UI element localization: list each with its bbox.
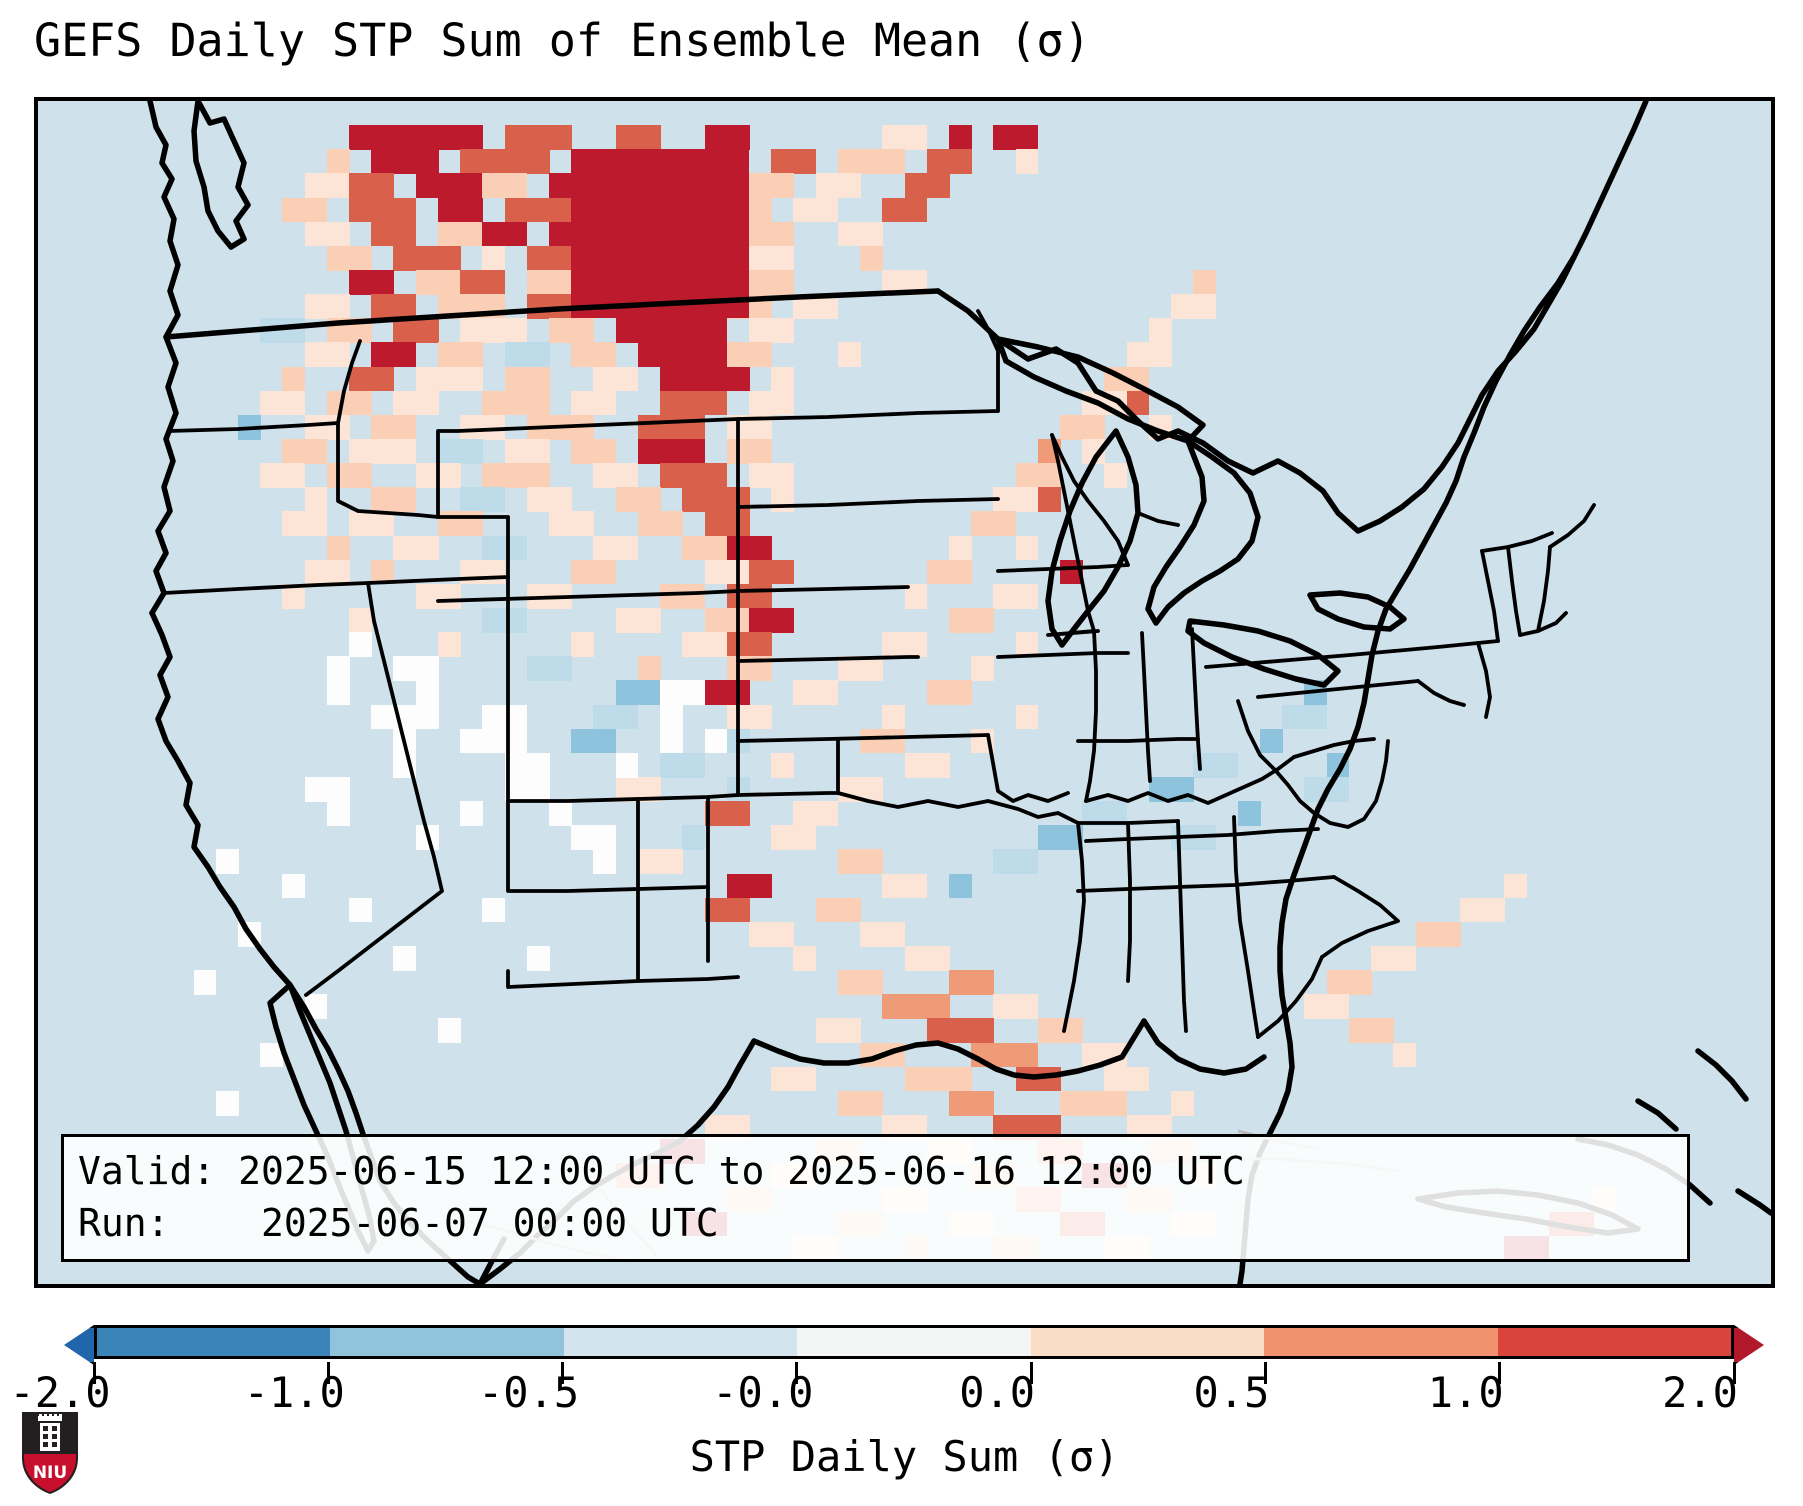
heatmap-cell-nearzero [616,753,639,778]
heatmap-cell [927,149,972,174]
heatmap-cell [1104,367,1149,392]
colorbar-tick-label: 0.5 [1193,1368,1269,1417]
heatmap-cell [527,584,572,609]
heatmap-cell [638,656,661,681]
heatmap-cell [860,922,905,947]
heatmap-cell [1127,342,1172,367]
heatmap-cell [749,173,794,198]
heatmap-cell [860,729,905,754]
heatmap-cell [1104,463,1127,488]
heatmap-cell [282,511,327,536]
heatmap-cell [771,1067,816,1092]
heatmap-cell [393,536,438,561]
heatmap-cell [1016,1067,1061,1092]
heatmap-cell [749,246,794,271]
heatmap-cell [749,318,794,343]
colorbar-segment [564,1328,797,1356]
heatmap-cell [1104,1067,1149,1092]
heatmap-cell [349,439,416,464]
heatmap-cell [438,342,483,367]
heatmap-cell [971,1043,1038,1068]
heatmap-cell [1193,753,1238,778]
heatmap-cell [1504,874,1527,899]
heatmap-cell-nearzero [549,801,572,826]
colorbar-segment [1031,1328,1264,1356]
heatmap-cell [505,198,572,223]
heatmap-cell [949,970,994,995]
heatmap-cell [371,222,416,247]
heatmap-cell [305,415,350,440]
heatmap-cell [882,705,905,730]
colorbar-under-arrow [64,1325,94,1365]
heatmap-cell [482,173,527,198]
heatmap-cell [305,173,350,198]
heatmap-cell [438,632,461,657]
heatmap-cell [349,511,394,536]
heatmap-cell [327,536,350,561]
heatmap-cell [838,149,905,174]
heatmap-cell [771,753,794,778]
heatmap-cell [793,680,838,705]
heatmap-cell [971,729,994,754]
page-title: GEFS Daily STP Sum of Ensemble Mean (σ) [34,14,1774,76]
heatmap-cell [705,511,750,536]
heatmap-cell [705,608,750,633]
heatmap-cell [1171,294,1216,319]
heatmap-cell [593,536,638,561]
heatmap-cell [971,511,1016,536]
heatmap-cell [727,536,772,561]
heatmap-cell [882,994,949,1019]
heatmap-cell [571,342,616,367]
heatmap-cell [1349,1018,1394,1043]
heatmap-cell [460,149,549,174]
heatmap-cell [1038,1018,1083,1043]
heatmap-cell [816,1018,861,1043]
heatmap-cell [371,342,416,367]
heatmap-cell [282,198,327,223]
heatmap-cell [1149,415,1172,440]
heatmap-cell [705,898,750,923]
heatmap-cell [505,125,572,150]
heatmap-cell-nearzero [371,705,416,730]
heatmap-cell [749,560,794,585]
heatmap-cell [838,777,883,802]
heatmap-cell [393,318,438,343]
heatmap-cell [1016,463,1061,488]
heatmap-cell [593,463,638,488]
heatmap-cell [949,536,972,561]
heatmap-cell-nearzero [393,729,416,778]
heatmap-cell [838,1091,883,1116]
heatmap-cell [949,874,972,899]
heatmap-cell [1416,922,1461,947]
heatmap-cell [727,439,772,464]
heatmap-cell [927,680,972,705]
heatmap-cell [660,753,705,778]
heatmap-cell [705,125,750,150]
heatmap-cell [793,946,816,971]
heatmap-cell [416,367,483,392]
heatmap-cell [1127,391,1150,416]
heatmap-cell [1016,705,1039,730]
heatmap-cell [838,849,883,874]
heatmap-cell [549,318,594,343]
heatmap-cell [727,415,772,440]
heatmap-cell [416,270,461,295]
heatmap-cell-nearzero [705,729,728,754]
heatmap-cell [371,294,416,319]
niu-logo-text: NIU [33,1463,67,1483]
colorbar-segment [797,1328,1030,1356]
heatmap-cell [438,222,483,247]
stp-anomaly-grid [38,101,1771,1284]
heatmap-cell [682,536,727,561]
heatmap-cell [638,439,705,464]
heatmap-cell [793,294,838,319]
colorbar-axis-label: STP Daily Sum (σ) [34,1432,1775,1481]
valid-time-line: Valid: 2025-06-15 12:00 UTC to 2025-06-1… [78,1145,1673,1197]
heatmap-cell [949,608,994,633]
heatmap-cell [305,294,350,319]
heatmap-cell [593,705,638,730]
heatmap-cell [460,318,527,343]
heatmap-cell [305,487,328,512]
heatmap-cell [571,560,616,585]
heatmap-cell [682,632,727,657]
heatmap-cell-nearzero [282,874,305,899]
heatmap-cell [527,415,594,440]
heatmap-cell [305,560,350,585]
heatmap-cell-nearzero [416,825,439,850]
heatmap-cell [616,125,661,150]
heatmap-cell [349,367,394,392]
heatmap-cell [1060,415,1105,440]
heatmap-cell [749,391,794,416]
colorbar-tick-labels: -2.0-1.0-0.5-0.00.00.51.02.0 [0,1368,1741,1428]
heatmap-cell [882,874,927,899]
heatmap-cell [993,584,1038,609]
heatmap-cell [838,342,861,367]
heatmap-cell [682,487,749,512]
heatmap-cell [1082,801,1127,826]
heatmap-cell-nearzero [349,898,372,923]
heatmap-cell [327,391,372,416]
heatmap-cell [1460,898,1505,923]
heatmap-cell [1082,439,1105,464]
heatmap-cell [460,560,505,585]
heatmap-cell [905,946,950,971]
heatmap-cell [349,198,416,223]
heatmap-cell-nearzero [460,729,527,754]
map-plot-area: Valid: 2025-06-15 12:00 UTC to 2025-06-1… [34,97,1775,1288]
heatmap-cell [438,511,483,536]
heatmap-cell [1171,825,1216,850]
heatmap-cell [771,825,816,850]
heatmap-cell [1038,487,1061,512]
heatmap-cell [460,415,505,440]
heatmap-cell [1304,994,1349,1019]
heatmap-cell [438,294,505,319]
heatmap-cell [1327,970,1372,995]
heatmap-cell-nearzero [349,632,372,657]
heatmap-cell [327,318,372,343]
colorbar-over-arrow [1734,1325,1764,1365]
heatmap-cell [349,270,394,295]
heatmap-cell [527,270,572,295]
heatmap-cell [705,680,750,705]
valid-run-infobox: Valid: 2025-06-15 12:00 UTC to 2025-06-1… [61,1134,1690,1262]
heatmap-cell [993,125,1038,150]
heatmap-cell [727,342,772,367]
heatmap-cell [549,511,594,536]
heatmap-cell-nearzero [571,825,616,850]
heatmap-cell-nearzero [305,777,350,802]
heatmap-cell [749,270,794,295]
heatmap-cell [416,584,461,609]
colorbar-tick-label: -1.0 [244,1368,345,1417]
heatmap-cell [882,632,927,657]
colorbar-tick-label: 2.0 [1662,1368,1738,1417]
heatmap-cell [771,487,794,512]
heatmap-cell-nearzero [660,705,683,754]
colorbar-tick-label: 0.0 [959,1368,1035,1417]
heatmap-cell [838,970,883,995]
heatmap-cell [727,584,772,609]
heatmap-hotspot-core [571,149,749,318]
heatmap-cell-nearzero [216,849,239,874]
heatmap-cell [327,246,372,271]
heatmap-cell-nearzero [527,946,550,971]
heatmap-cell [616,318,728,343]
heatmap-cell [393,391,438,416]
heatmap-cell [527,246,572,271]
heatmap-cell [527,656,572,681]
heatmap-cell [1060,1091,1127,1116]
heatmap-cell [905,1067,972,1092]
heatmap-cell [1149,777,1194,802]
heatmap-cell [616,487,661,512]
heatmap-cell-nearzero [527,777,550,802]
heatmap-cell-nearzero [327,801,350,826]
heatmap-cell [705,801,750,826]
heatmap-cell [749,608,794,633]
heatmap-cell [793,198,838,223]
heatmap-cell [660,584,705,609]
heatmap-cell [860,246,883,271]
heatmap-cell [371,560,394,585]
heatmap-cell [1038,825,1083,850]
heatmap-cell [371,487,416,512]
heatmap-cell [993,487,1038,512]
colorbar-tick-label: -0.0 [712,1368,813,1417]
heatmap-cell-nearzero [660,680,705,705]
heatmap-cell [1038,439,1061,464]
heatmap-cell [1016,149,1039,174]
heatmap-cell [971,656,994,681]
heatmap-cell [1149,318,1172,343]
heatmap-cell [638,342,727,367]
heatmap-cell [349,125,394,150]
heatmap-cell [327,463,372,488]
heatmap-cell [482,222,527,247]
heatmap-cell [749,463,794,488]
heatmap-cell [771,149,816,174]
heatmap-cell-nearzero [593,849,616,874]
heatmap-cell [593,367,638,392]
heatmap-cell [305,342,350,367]
heatmap-cell [1193,270,1216,295]
heatmap-cell [571,632,594,657]
heatmap-cell [705,560,750,585]
heatmap-cell [282,584,305,609]
heatmap-cell [1016,536,1039,561]
heatmap-cell [305,222,350,247]
heatmap-cell [371,415,416,440]
heatmap-cell [660,463,727,488]
colorbar-tick-label: 1.0 [1428,1368,1504,1417]
heatmap-cell-nearzero [393,656,438,681]
niu-logo: NIU [18,1408,82,1496]
heatmap-cell [638,511,683,536]
heatmap-cell [727,874,772,899]
heatmap-cell [282,367,305,392]
heatmap-cell [1393,1043,1416,1068]
heatmap-cell [1016,632,1039,657]
heatmap-cell-nearzero [194,970,217,995]
heatmap-cell [927,1018,994,1043]
heatmap-cell [616,608,661,633]
heatmap-cell [482,608,527,633]
heatmap-cell [416,463,461,488]
heatmap-cell [460,270,505,295]
heatmap-cell [660,367,749,392]
heatmap-cell [1082,1043,1127,1068]
heatmap-cell-nearzero [305,994,328,1019]
heatmap-cell [993,849,1038,874]
heatmap-cell-nearzero [482,898,505,923]
heatmap-cell [638,849,683,874]
heatmap-cell [238,415,261,440]
heatmap-cell [527,487,572,512]
heatmap-cell [1282,705,1327,730]
heatmap-cell [505,342,550,367]
heatmap-cell-nearzero [327,656,350,705]
heatmap-cell [571,391,616,416]
heatmap-cell [371,149,438,174]
colorbar-gradient[interactable] [94,1325,1734,1359]
heatmap-cell [260,318,305,343]
heatmap-cell [860,1043,905,1068]
heatmap-cell-nearzero [460,801,483,826]
heatmap-cell [1171,1091,1194,1116]
heatmap-cell [505,367,550,392]
heatmap-cell-nearzero [393,946,416,971]
heatmap-cell [882,270,927,295]
heatmap-cell [1082,391,1127,416]
heatmap-cell [282,439,327,464]
heatmap-cell [260,463,305,488]
heatmap-cell [393,125,482,150]
heatmap-cell [393,246,460,271]
heatmap-cell-nearzero [438,1018,461,1043]
heatmap-cell [482,391,549,416]
heatmap-cell [927,560,972,585]
heatmap-cell [771,367,794,392]
heatmap-cell [460,487,505,512]
heatmap-cell [1371,946,1416,971]
heatmap-cell [905,753,950,778]
heatmap-cell-nearzero [238,922,261,947]
heatmap-cell [838,222,883,247]
heatmap-cell [482,463,549,488]
heatmap-cell [327,149,350,174]
heatmap-cell [816,173,861,198]
heatmap-cell [349,608,372,633]
colorbar[interactable] [34,1325,1775,1365]
heatmap-cell [616,680,661,705]
heatmap-cell [1060,560,1083,585]
colorbar-segment [97,1328,330,1356]
heatmap-cell [1260,729,1283,754]
heatmap-cell [727,632,772,657]
map-canvas [38,101,1771,1284]
heatmap-cell [527,294,572,319]
heatmap-cell [727,656,772,681]
heatmap-cell [816,898,861,923]
heatmap-cell [416,173,483,198]
heatmap-cell [793,801,838,826]
heatmap-cell [616,777,661,802]
colorbar-segment [330,1328,563,1356]
heatmap-cell [349,173,394,198]
heatmap-cell [993,994,1038,1019]
heatmap-cell [482,246,505,271]
heatmap-cell [660,391,727,416]
heatmap-cell-nearzero [260,1043,283,1068]
heatmap-cell-nearzero [416,680,439,729]
heatmap-cell [1304,777,1349,802]
heatmap-cell [1238,801,1261,826]
heatmap-cell [438,198,483,223]
heatmap-cell [905,584,928,609]
heatmap-cell [882,125,927,150]
heatmap-cell [905,173,950,198]
heatmap-cell [882,198,927,223]
heatmap-cell [571,729,616,754]
heatmap-cell-nearzero [216,1091,239,1116]
heatmap-cell [1304,680,1327,705]
colorbar-segment [1264,1328,1497,1356]
heatmap-cell [505,439,550,464]
heatmap-cell [438,439,483,464]
heatmap-cell [727,777,750,802]
heatmap-cell [260,391,305,416]
heatmap-cell [949,125,972,150]
heatmap-cell [749,922,794,947]
heatmap-cell [571,439,616,464]
heatmap-cell [727,705,772,730]
heatmap-cell [949,1091,994,1116]
heatmap-cell [1327,753,1350,778]
colorbar-segment [1498,1328,1731,1356]
colorbar-tick-label: -0.5 [478,1368,579,1417]
run-time-line: Run: 2025-06-07 00:00 UTC [78,1197,1673,1249]
heatmap-cell [482,536,527,561]
heatmap-cell [638,415,705,440]
heatmap-cell [682,825,705,850]
heatmap-cell [838,656,883,681]
